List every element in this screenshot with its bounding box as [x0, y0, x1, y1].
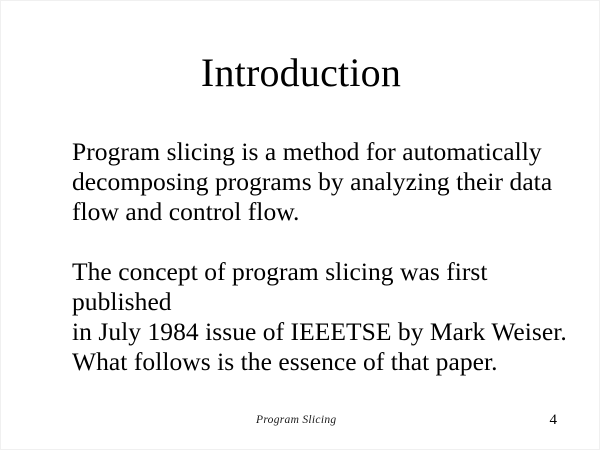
slide-footer: Program Slicing 4: [1, 412, 600, 432]
presentation-slide: Introduction Program slicing is a method…: [0, 0, 600, 450]
body-paragraph-1: Program slicing is a method for automati…: [72, 137, 572, 227]
page-title: Introduction: [1, 51, 600, 95]
footer-presentation-title: Program Slicing: [256, 412, 336, 428]
footer-page-number: 4: [550, 411, 558, 429]
slide-body: Program slicing is a method for automati…: [72, 137, 572, 377]
body-paragraph-2: The concept of program slicing was first…: [72, 257, 572, 377]
